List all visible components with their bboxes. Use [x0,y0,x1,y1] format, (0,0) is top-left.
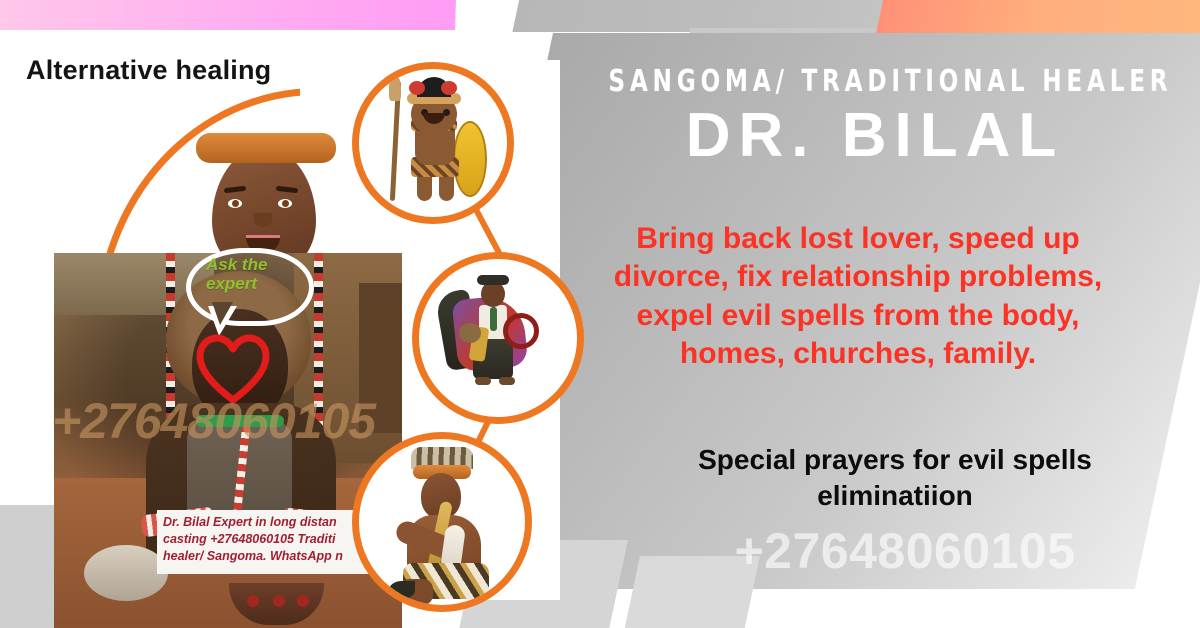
contact-phone-watermark: +27648060105 [620,522,1190,580]
caption-line-2: casting +27648060105 Traditi [163,531,373,548]
speech-bubble-tail-inner [212,302,233,325]
special-line-2: eliminatiion [600,478,1190,514]
services-line-3: expel evil spells from the body, [538,297,1178,335]
top-orange-bar [876,0,1200,34]
photo-caption: Dr. Bilal Expert in long distan casting … [157,510,379,574]
services-text: Bring back lost lover, speed up divorce,… [538,220,1178,374]
healer-name: DR. BILAL [565,105,1185,167]
headline-eyebrow: SANGOMA/ TRADITIONAL HEALER [608,64,1141,99]
poster-canvas: Alternative healing Ask the expert +276 [0,0,1200,628]
services-line-2: divorce, fix relationship problems, [538,258,1178,296]
page-title: Alternative healing [26,55,271,86]
caption-line-3: healer/ Sangoma. WhatsApp n [163,548,373,565]
services-line-4: homes, churches, family. [538,335,1178,373]
services-line-1: Bring back lost lover, speed up [538,220,1178,258]
top-pink-bar [0,0,456,30]
cartoon-warrior-icon [352,62,514,224]
crouching-healer-icon [352,432,532,612]
speech-bubble-text: Ask the expert [206,255,302,293]
special-prayers-text: Special prayers for evil spells eliminat… [600,442,1190,514]
special-line-1: Special prayers for evil spells [600,442,1190,478]
caption-line-1: Dr. Bilal Expert in long distan [163,514,373,531]
